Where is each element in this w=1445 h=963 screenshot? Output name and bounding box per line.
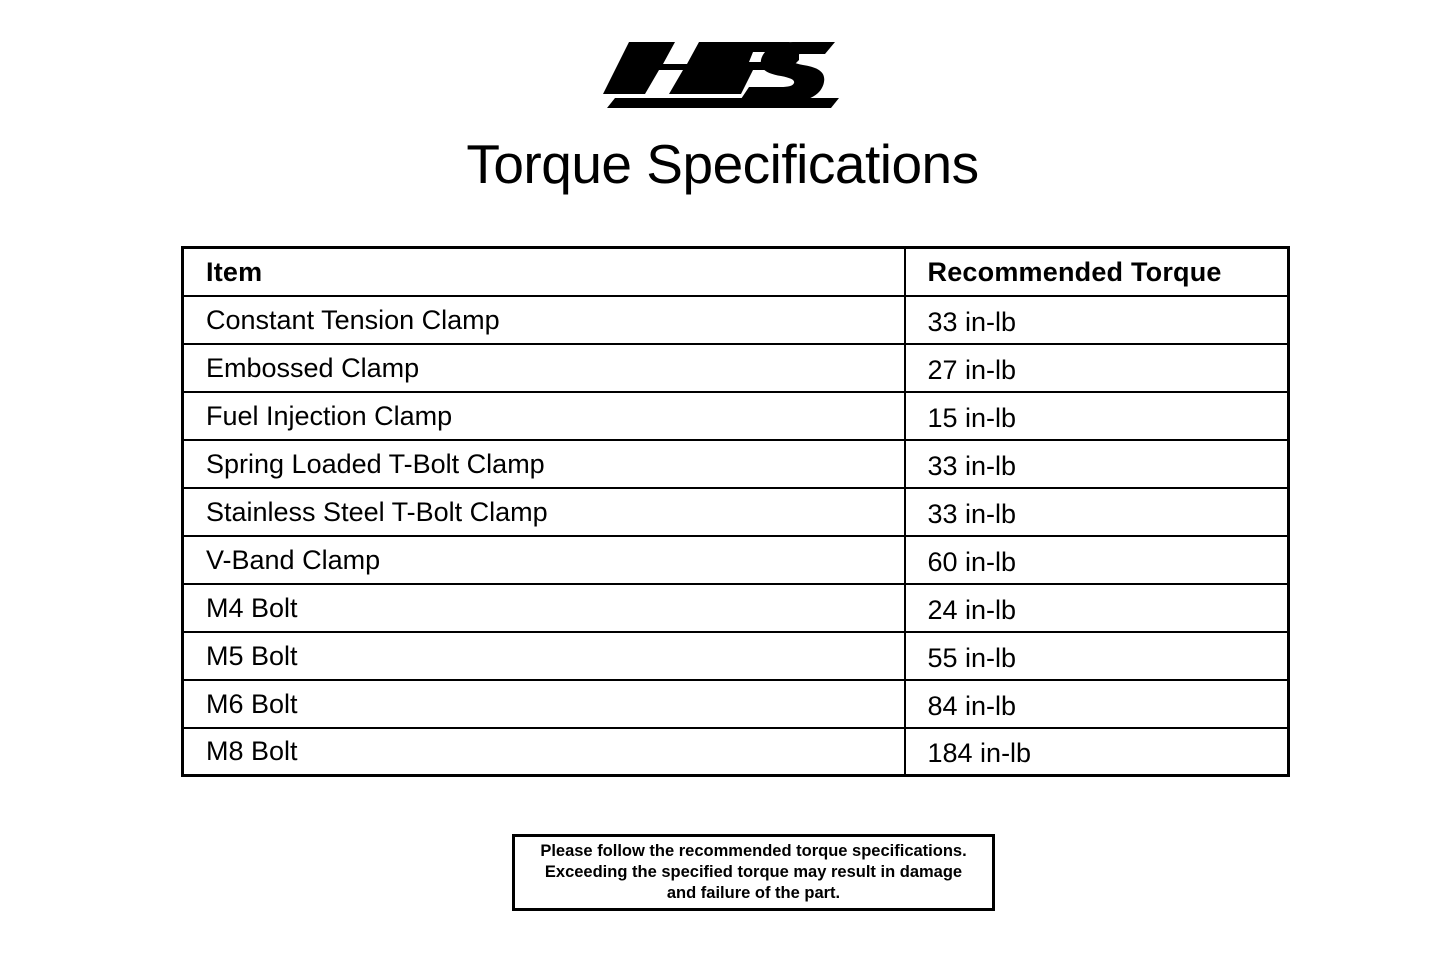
brand-logo bbox=[0, 36, 1445, 114]
torque-spec-table: Item Recommended Torque Constant Tension… bbox=[181, 246, 1290, 777]
cell-recommended-torque: 27 in-lb bbox=[905, 344, 1289, 392]
footer-warning-box: Please follow the recommended torque spe… bbox=[512, 834, 995, 911]
table-row: M4 Bolt24 in-lb bbox=[183, 584, 1289, 632]
table-row: Stainless Steel T-Bolt Clamp33 in-lb bbox=[183, 488, 1289, 536]
cell-recommended-torque: 84 in-lb bbox=[905, 680, 1289, 728]
cell-item: M4 Bolt bbox=[183, 584, 905, 632]
table-row: M6 Bolt84 in-lb bbox=[183, 680, 1289, 728]
cell-item: Constant Tension Clamp bbox=[183, 296, 905, 344]
table-row: Fuel Injection Clamp15 in-lb bbox=[183, 392, 1289, 440]
cell-recommended-torque: 33 in-lb bbox=[905, 296, 1289, 344]
footer-note-line-2: Exceeding the specified torque may resul… bbox=[545, 862, 962, 883]
torque-spec-table-container: Item Recommended Torque Constant Tension… bbox=[181, 246, 1287, 777]
page-title: Torque Specifications bbox=[0, 132, 1445, 196]
cell-item: V-Band Clamp bbox=[183, 536, 905, 584]
cell-item: M5 Bolt bbox=[183, 632, 905, 680]
cell-recommended-torque: 33 in-lb bbox=[905, 440, 1289, 488]
cell-item: M8 Bolt bbox=[183, 728, 905, 776]
table-row: M5 Bolt55 in-lb bbox=[183, 632, 1289, 680]
cell-item: M6 Bolt bbox=[183, 680, 905, 728]
footer-note-line-1: Please follow the recommended torque spe… bbox=[540, 841, 966, 862]
cell-recommended-torque: 24 in-lb bbox=[905, 584, 1289, 632]
footer-note-line-3: and failure of the part. bbox=[667, 883, 840, 904]
column-header-recommended-torque: Recommended Torque bbox=[905, 248, 1289, 296]
cell-recommended-torque: 15 in-lb bbox=[905, 392, 1289, 440]
cell-item: Spring Loaded T-Bolt Clamp bbox=[183, 440, 905, 488]
table-row: Spring Loaded T-Bolt Clamp33 in-lb bbox=[183, 440, 1289, 488]
cell-recommended-torque: 33 in-lb bbox=[905, 488, 1289, 536]
table-row: Constant Tension Clamp33 in-lb bbox=[183, 296, 1289, 344]
cell-recommended-torque: 60 in-lb bbox=[905, 536, 1289, 584]
table-row: M8 Bolt184 in-lb bbox=[183, 728, 1289, 776]
table-row: Embossed Clamp27 in-lb bbox=[183, 344, 1289, 392]
cell-item: Embossed Clamp bbox=[183, 344, 905, 392]
table-row: V-Band Clamp60 in-lb bbox=[183, 536, 1289, 584]
table-header-row: Item Recommended Torque bbox=[183, 248, 1289, 296]
cell-recommended-torque: 55 in-lb bbox=[905, 632, 1289, 680]
cell-recommended-torque: 184 in-lb bbox=[905, 728, 1289, 776]
hps-logo-icon bbox=[603, 36, 843, 108]
column-header-item: Item bbox=[183, 248, 905, 296]
cell-item: Fuel Injection Clamp bbox=[183, 392, 905, 440]
cell-item: Stainless Steel T-Bolt Clamp bbox=[183, 488, 905, 536]
